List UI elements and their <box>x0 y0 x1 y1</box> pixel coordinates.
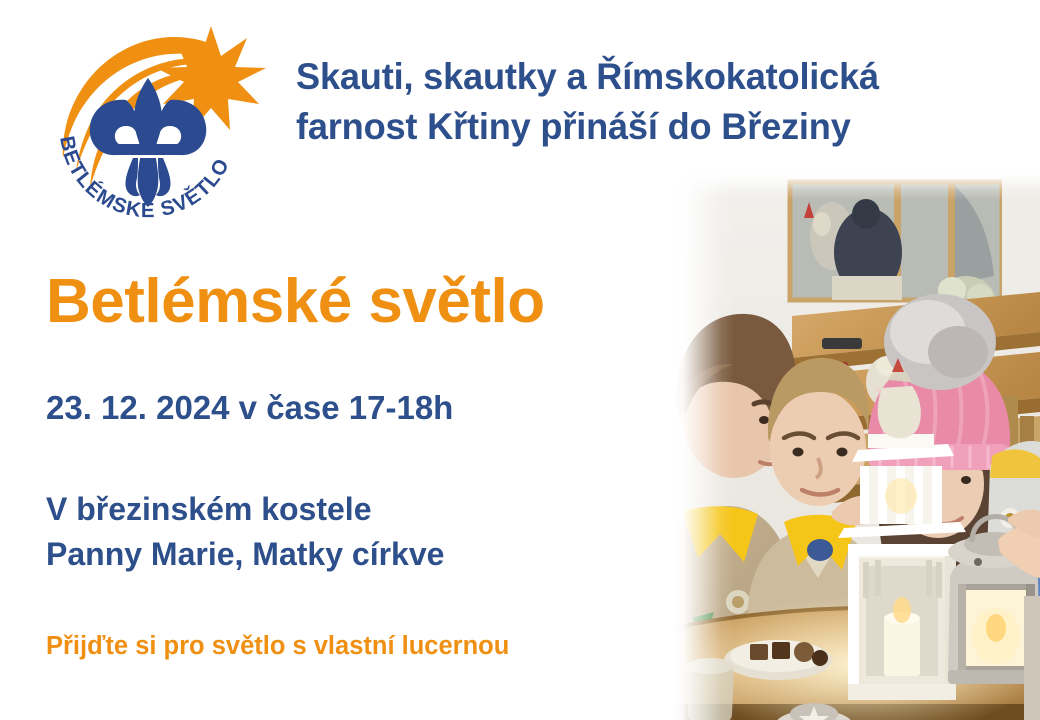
poster-canvas: BETLÉMSKÉ SVĚTLO Skauti, skautky a Římsk… <box>0 0 1040 720</box>
headline-line-1: Skauti, skautky a Římskokatolická <box>296 52 962 102</box>
venue-line-1: V březinském kostele <box>46 487 444 532</box>
event-photo-illustration <box>672 166 1040 720</box>
headline-line-2: farnost Křtiny přináší do Březiny <box>296 102 962 152</box>
event-callout: Přijďte si pro světlo s vlastní lucernou <box>46 632 509 660</box>
event-datetime: 23. 12. 2024 v čase 17-18h <box>46 390 453 426</box>
logo-svg: BETLÉMSKÉ SVĚTLO <box>30 14 266 224</box>
page-title: Skauti, skautky a Římskokatolická farnos… <box>296 52 986 152</box>
betlemske-svetlo-logo: BETLÉMSKÉ SVĚTLO <box>30 14 266 224</box>
venue-line-2: Panny Marie, Matky církve <box>46 532 444 577</box>
event-venue: V březinském kostele Panny Marie, Matky … <box>46 487 444 578</box>
event-photo <box>672 166 1040 720</box>
event-title: Betlémské světlo <box>46 271 545 333</box>
